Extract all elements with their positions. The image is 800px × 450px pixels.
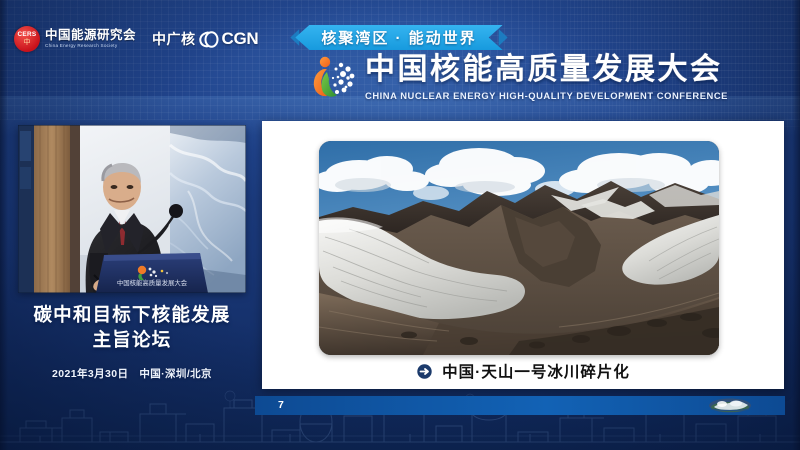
cgn-logo: 中广核 CGN bbox=[152, 29, 258, 49]
footer-landscape-badge-icon bbox=[708, 398, 752, 413]
slide-footer-bar: 7 bbox=[255, 396, 785, 415]
forum-title: 碳中和目标下核能发展 主旨论坛 bbox=[10, 303, 254, 353]
photo-caption-text: 中国·天山一号冰川碎片化 bbox=[442, 360, 630, 382]
presentation-livestream-frame: CERS 中 中国能源研究会 China Energy Research Soc… bbox=[0, 0, 800, 450]
cers-seal-subtext: 中 bbox=[24, 39, 31, 46]
conference-title-text: 中国核能高质量发展大会 CHINA NUCLEAR ENERGY HIGH-QU… bbox=[365, 55, 728, 101]
cers-logo-text: 中国能源研究会 China Energy Research Society bbox=[45, 29, 136, 49]
cgn-name-en: CGN bbox=[222, 29, 259, 49]
forum-title-line2: 主旨论坛 bbox=[10, 328, 254, 353]
event-slogan-ribbon: 核聚湾区 · 能动世界 bbox=[290, 25, 507, 50]
header-logo-group: CERS 中 中国能源研究会 China Energy Research Soc… bbox=[14, 26, 258, 52]
cgn-swirl-icon bbox=[198, 31, 220, 48]
conference-title-block: 中国核能高质量发展大会 CHINA NUCLEAR ENERGY HIGH-QU… bbox=[305, 52, 728, 104]
cers-name-cn: 中国能源研究会 bbox=[45, 29, 136, 43]
cers-seal-icon: CERS 中 bbox=[14, 26, 40, 52]
ribbon-wing-right bbox=[499, 29, 508, 46]
ribbon-body: 核聚湾区 · 能动世界 bbox=[295, 25, 502, 50]
photo-caption: 中国·天山一号冰川碎片化 bbox=[262, 360, 784, 382]
tianshan-glacier-photo bbox=[319, 141, 719, 355]
left-edge-shadow bbox=[0, 0, 8, 450]
page-number: 7 bbox=[278, 399, 284, 411]
cgn-name-cn: 中广核 bbox=[152, 29, 196, 49]
conference-emblem-icon bbox=[305, 52, 357, 104]
speaker-video-feed[interactable]: 中国核能高质量发展大会 bbox=[18, 125, 246, 293]
circle-arrow-right-icon bbox=[416, 363, 433, 380]
right-edge-shadow bbox=[792, 0, 800, 450]
forum-date-location: 2021年3月30日 中国·深圳/北京 bbox=[10, 366, 254, 381]
forum-title-line1: 碳中和目标下核能发展 bbox=[10, 303, 254, 328]
conference-title-en: CHINA NUCLEAR ENERGY HIGH-QUALITY DEVELO… bbox=[365, 90, 728, 101]
cers-name-en: China Energy Research Society bbox=[45, 44, 136, 49]
conference-title-cn: 中国核能高质量发展大会 bbox=[365, 55, 728, 85]
cers-logo: CERS 中 中国能源研究会 China Energy Research Soc… bbox=[14, 26, 136, 52]
svg-text:中国核能高质量发展大会: 中国核能高质量发展大会 bbox=[117, 278, 188, 287]
slide-canvas: 中国·天山一号冰川碎片化 bbox=[262, 121, 784, 389]
cers-seal-text: CERS bbox=[18, 32, 37, 38]
ribbon-slogan-text: 核聚湾区 · 能动世界 bbox=[321, 27, 476, 48]
